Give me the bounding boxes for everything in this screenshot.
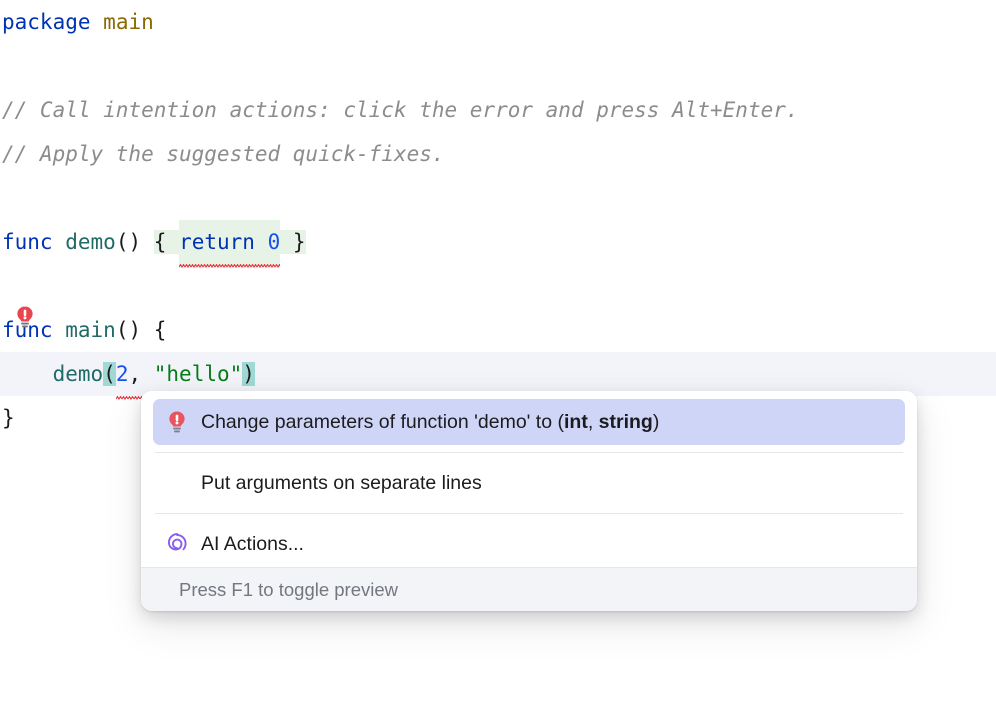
parens-demo-decl: () [116, 230, 141, 254]
intention-actions-popup[interactable]: Change parameters of function 'demo' to … [141, 391, 917, 611]
argument-string: "hello" [154, 362, 243, 386]
code-line-comment-1: // Call intention actions: click the err… [0, 88, 996, 132]
brace-open-main: { [154, 318, 167, 342]
package-name: main [103, 10, 154, 34]
code-line-blank-2 [0, 176, 996, 220]
label-suffix: ) [653, 411, 660, 433]
call-function-demo: demo [53, 362, 104, 386]
keyword-func-demo: func [2, 230, 53, 254]
brace-close-demo: } [293, 230, 306, 254]
label-type-int: int [564, 411, 588, 433]
preview-hint-text: Press F1 to toggle preview [179, 579, 398, 601]
code-line-blank-3 [0, 264, 996, 308]
brace-close-main: } [2, 406, 15, 430]
function-name-main: main [65, 318, 116, 342]
menu-item-ai-actions[interactable]: AI Actions... [153, 521, 905, 567]
popup-item-list: Change parameters of function 'demo' to … [141, 391, 917, 567]
comment-text-1: // Call intention actions: click the err… [2, 98, 799, 122]
code-line-func-demo: func demo() { return 0 } [0, 220, 996, 264]
paren-open-matched: ( [103, 362, 116, 386]
function-name-demo: demo [65, 230, 116, 254]
comment-text-2: // Apply the suggested quick-fixes. [2, 142, 445, 166]
argument-number: 2 [116, 362, 129, 386]
error-return-zero: return 0 [179, 220, 280, 268]
code-line-blank-1 [0, 44, 996, 88]
code-line-package: package main [0, 0, 996, 44]
keyword-return: return [179, 230, 255, 254]
argument-comma: , [128, 362, 153, 386]
code-line-comment-2: // Apply the suggested quick-fixes. [0, 132, 996, 176]
paren-close-matched: ) [242, 362, 255, 386]
quick-fix-bulb-icon [165, 410, 189, 434]
indent-whitespace [2, 362, 53, 386]
label-prefix: Change parameters of function 'demo' to … [201, 411, 564, 433]
popup-footer-hint: Press F1 to toggle preview [141, 567, 917, 611]
menu-item-change-parameters[interactable]: Change parameters of function 'demo' to … [153, 399, 905, 445]
menu-item-put-arguments-separate-lines[interactable]: Put arguments on separate lines [153, 460, 905, 506]
label-separator: , [588, 411, 599, 433]
error-bulb-icon[interactable] [14, 300, 36, 324]
code-line-func-main: func main() { [0, 308, 996, 352]
menu-item-label-change-parameters: Change parameters of function 'demo' to … [201, 411, 659, 434]
menu-item-label-put-arguments: Put arguments on separate lines [201, 472, 482, 495]
code-line-call-demo: demo(2, "hello") [0, 352, 996, 396]
label-type-string: string [599, 411, 653, 433]
menu-separator-1 [155, 452, 903, 453]
keyword-package: package [2, 10, 91, 34]
parens-main-decl: () [116, 318, 141, 342]
ai-spiral-icon [165, 532, 189, 556]
brace-open-demo: { [154, 230, 167, 254]
number-zero: 0 [268, 230, 281, 254]
menu-separator-2 [155, 513, 903, 514]
menu-item-label-ai-actions: AI Actions... [201, 533, 304, 556]
